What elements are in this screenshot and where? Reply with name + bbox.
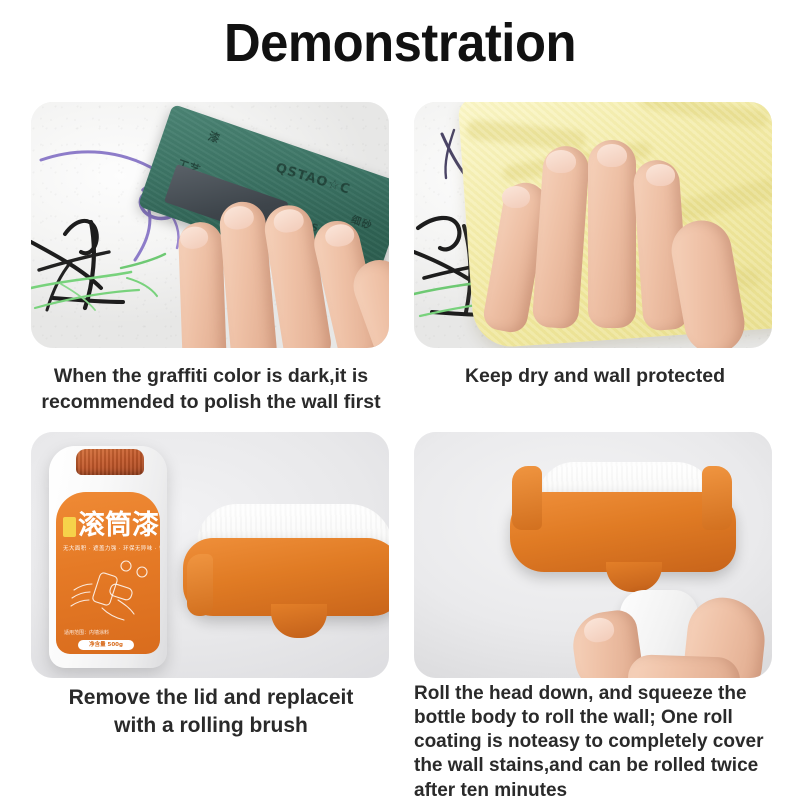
- sanding-block-on-graffiti-wall-photo: QSTAO☆C 漆 工艺 专用 12 S 细砂: [31, 102, 389, 348]
- caption-line: When the graffiti color is dark,it is: [26, 364, 396, 390]
- hand: [494, 124, 744, 348]
- roller-arm: [187, 554, 213, 616]
- caption-line: Roll the head down, and squeeze the: [414, 682, 786, 706]
- caption-line: after ten minutes: [414, 779, 786, 803]
- roller-brush-head: [183, 504, 389, 664]
- hand-squeezing-bottle: [574, 582, 764, 678]
- paint-bottle: 滚筒漆 无大面积 · 遮盖力强 · 环保无异味 · 快干不脱落: [49, 446, 167, 668]
- label-title: 滚筒漆: [78, 512, 159, 539]
- caption-line: Remove the lid and replaceit: [26, 684, 396, 712]
- bottle-cap: [76, 449, 144, 475]
- wiping-wall-with-yellow-cloth-photo: [414, 102, 772, 348]
- paint-bottle-and-roller-head-photo: 滚筒漆 无大面积 · 遮盖力强 · 环保无异味 · 快干不脱落: [31, 432, 389, 678]
- roller-stem: [271, 604, 327, 638]
- label-tag: 净含量 500g: [78, 640, 134, 650]
- label-subtext: 无大面积 · 遮盖力强 · 环保无异味 · 快干不脱落: [63, 544, 155, 552]
- step-1-caption: When the graffiti color is dark,it is re…: [26, 364, 396, 416]
- roller-arm-right: [702, 466, 732, 530]
- label-footer: 适用范围：内墙涂料: [64, 629, 150, 636]
- step-2-caption: Keep dry and wall protected: [410, 364, 780, 390]
- step-4-caption: Roll the head down, and squeeze the bott…: [414, 682, 786, 803]
- caption-line: recommended to polish the wall first: [26, 390, 396, 416]
- page-title: Demonstration: [24, 12, 776, 74]
- step-3-caption: Remove the lid and replaceit with a roll…: [26, 684, 396, 740]
- roller-frame: [510, 492, 736, 572]
- caption-line: with a rolling brush: [26, 712, 396, 740]
- caption-line: Keep dry and wall protected: [410, 364, 780, 390]
- caption-line: coating is noteasy to completely cover: [414, 730, 786, 754]
- label-badge: [63, 517, 76, 537]
- caption-line: the wall stains,and can be rolled twice: [414, 754, 786, 778]
- caption-line: bottle body to roll the wall; One roll: [414, 706, 786, 730]
- hand: [160, 161, 389, 348]
- label-illustration: [62, 556, 154, 626]
- rolling-paint-onto-wall-photo: [414, 432, 772, 678]
- roller-arm-left: [512, 466, 542, 530]
- demonstration-page: Demonstration: [0, 0, 800, 800]
- bottle-label: 滚筒漆 无大面积 · 遮盖力强 · 环保无异味 · 快干不脱落: [56, 492, 160, 654]
